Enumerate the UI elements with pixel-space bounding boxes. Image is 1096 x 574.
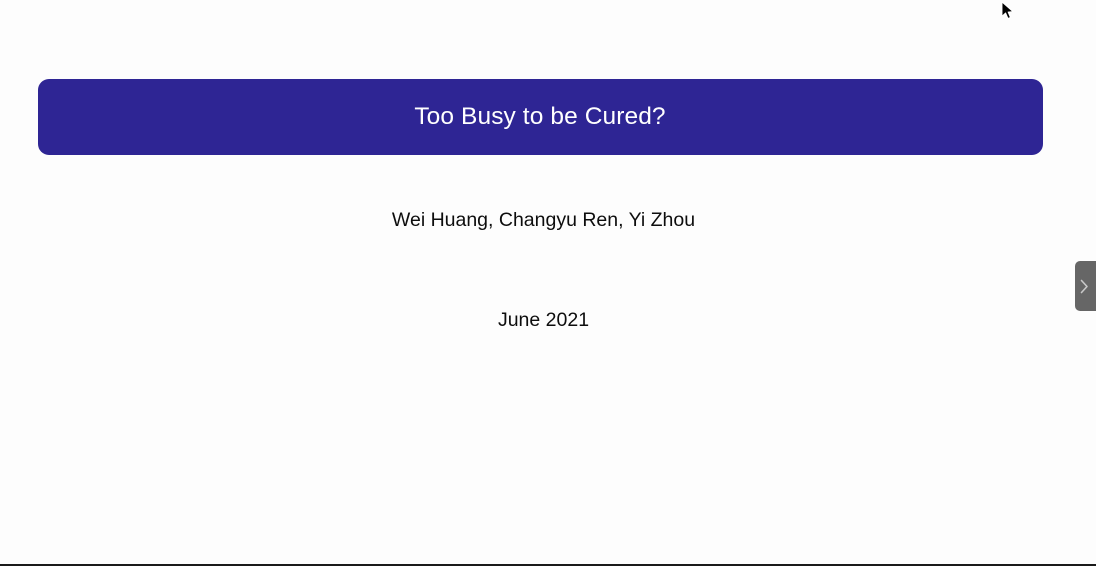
- presentation-viewport: Too Busy to be Cured? Wei Huang, Changyu…: [0, 0, 1096, 574]
- slide-title: Too Busy to be Cured?: [414, 105, 665, 130]
- slide-date: June 2021: [0, 311, 1087, 331]
- slide-title-banner: Too Busy to be Cured?: [38, 79, 1043, 155]
- slide-canvas: Too Busy to be Cured? Wei Huang, Changyu…: [0, 0, 1096, 566]
- slide-authors: Wei Huang, Changyu Ren, Yi Zhou: [0, 211, 1087, 231]
- chevron-right-icon: [1080, 279, 1089, 294]
- expand-panel-handle[interactable]: [1075, 261, 1096, 311]
